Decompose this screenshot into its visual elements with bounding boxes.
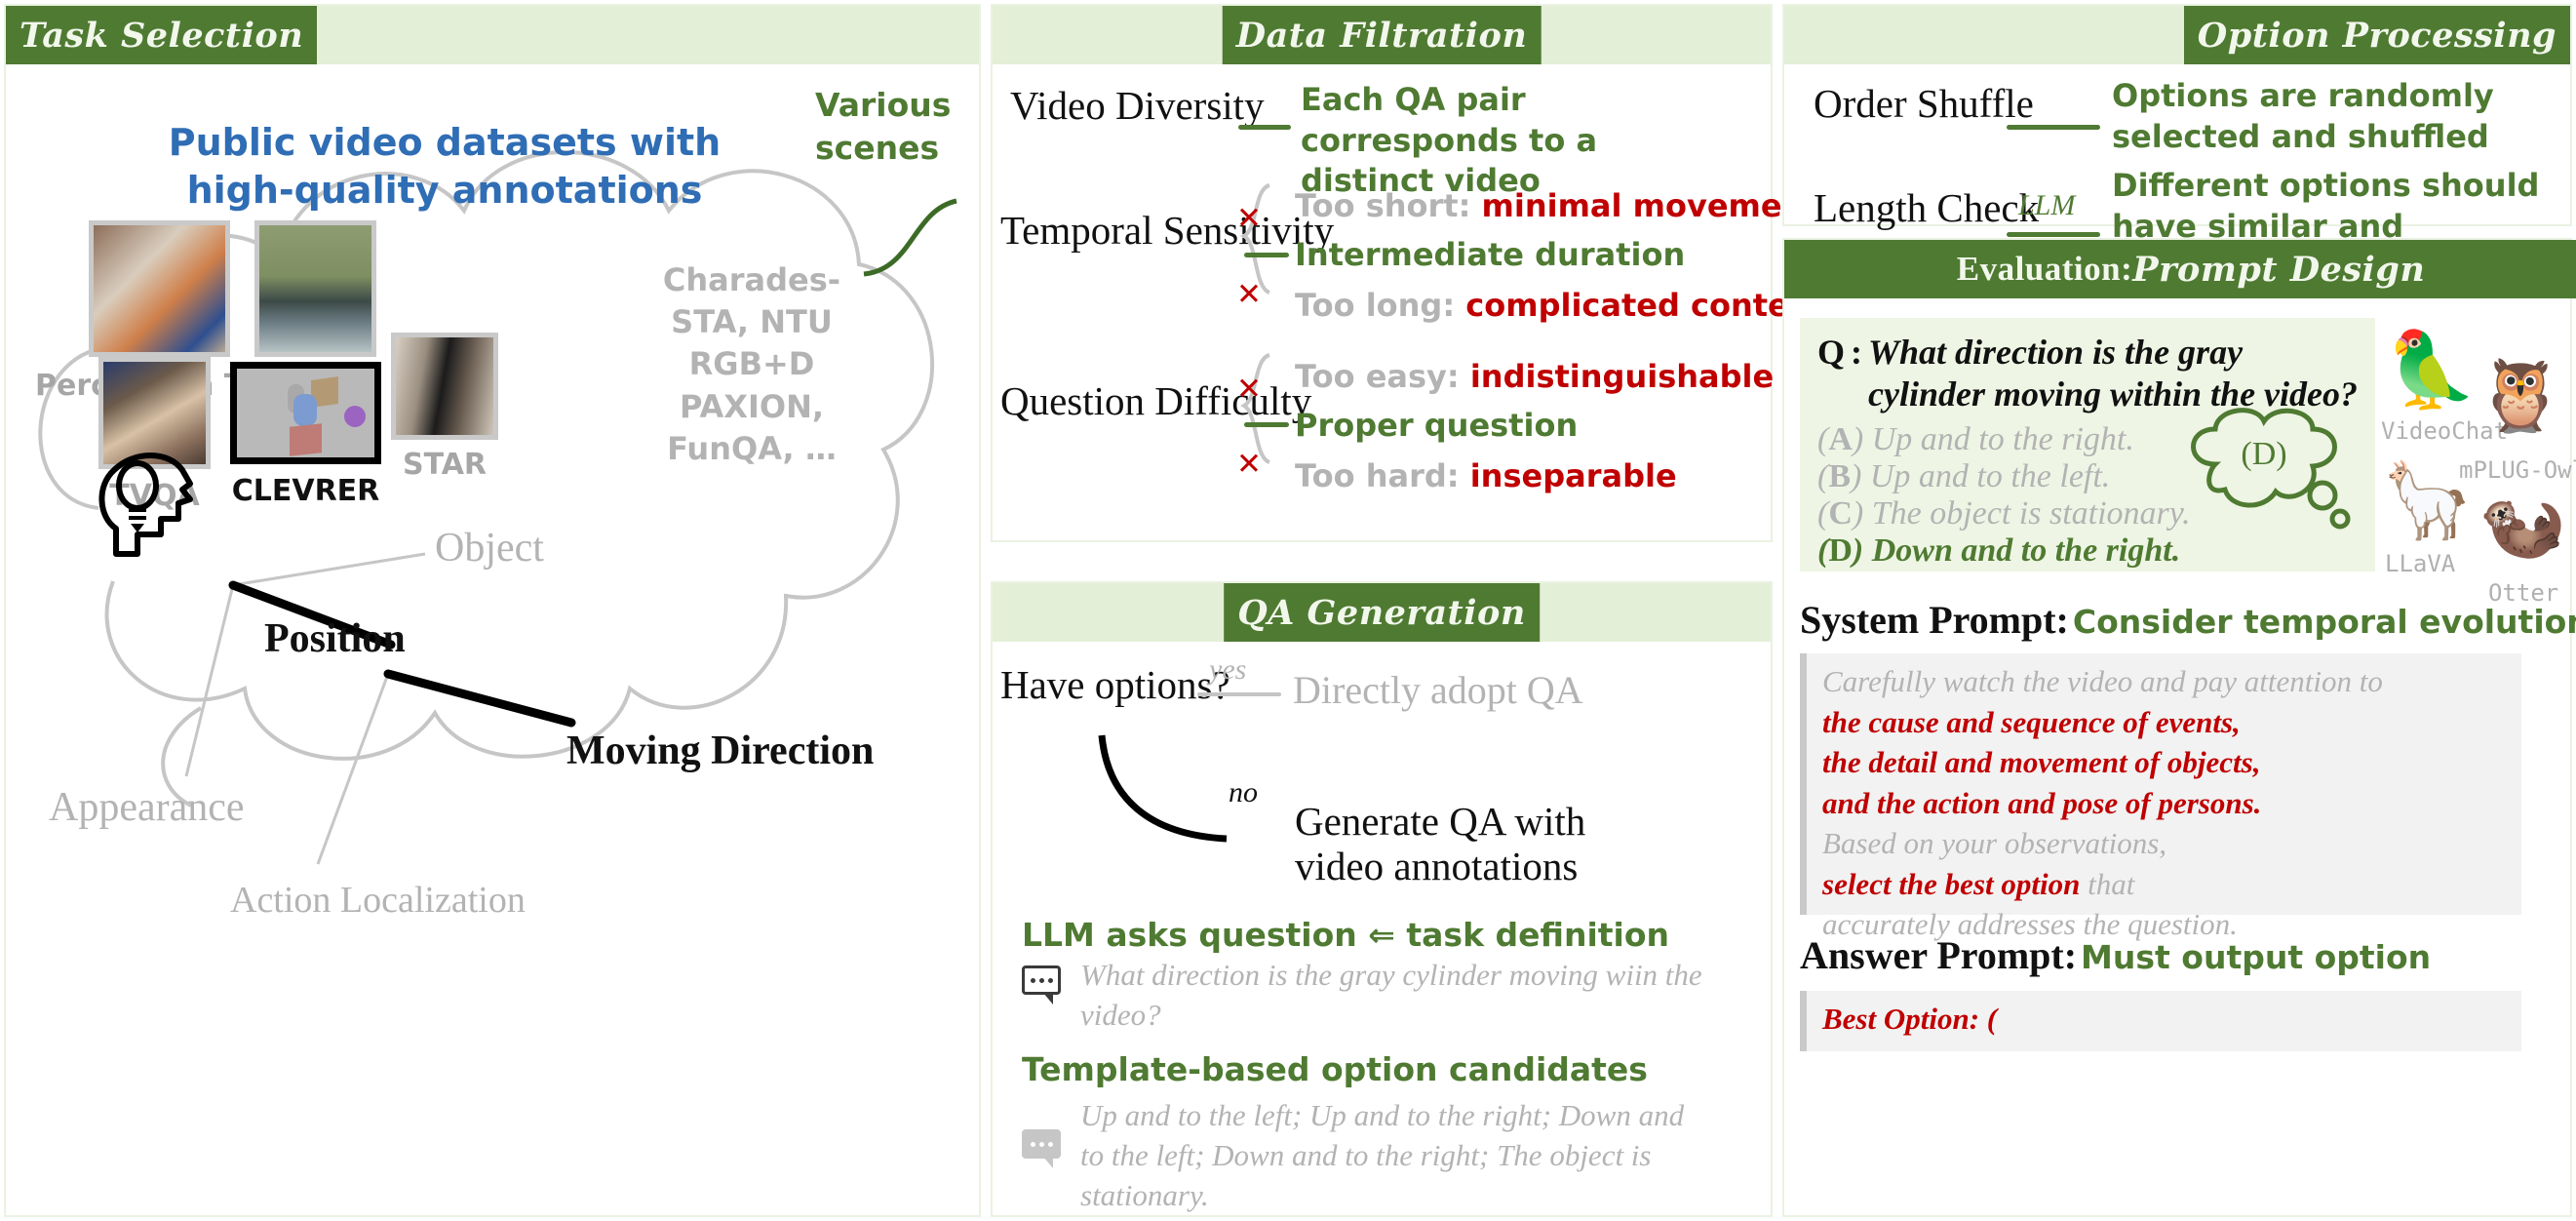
evaluation-title-sep: :: [2121, 250, 2132, 289]
option-key: B: [1828, 458, 1851, 494]
task-selection-body: Public video datasets with high-quality …: [6, 64, 979, 1217]
system-prompt-heading: System Prompt: Consider temporal evoluti…: [1800, 597, 2576, 643]
rule-text-order-shuffle: Options are randomly selected and shuffl…: [2112, 76, 2541, 157]
system-prompt-line-6: select the best option that: [1822, 864, 2521, 905]
panel-title-data-filtration: Data Filtration: [1223, 6, 1542, 64]
taxonomy-label-appearance: Appearance: [49, 784, 245, 831]
branch-prefix: Too easy:: [1295, 358, 1470, 395]
system-prompt-line-2: the cause and sequence of events,: [1822, 702, 2521, 743]
reject-mark-question-easy: ✕: [1236, 372, 1262, 407]
qa-step2-example: Up and to the left; Up and to the right;…: [1080, 1096, 1714, 1216]
branch-temporal-too-long: Too long: complicated context: [1295, 286, 1753, 327]
system-prompt-note: Consider temporal evolution: [2073, 603, 2576, 641]
panel-header-evaluation: Evaluation: Prompt Design: [1784, 240, 2570, 298]
branch-text: complicated context: [1465, 287, 1823, 324]
panel-header-qa-generation: QA Generation: [993, 583, 1771, 642]
model-label-mplug-owl: mPLUG-Owl: [2459, 456, 2576, 484]
criterion-value-video-diversity: Each QA pair corresponds to a distinct v…: [1301, 80, 1720, 202]
figure-canvas: Task Selection Public video datasets wit…: [0, 0, 2576, 1221]
rule-agent-length-check: LLM: [2018, 189, 2075, 222]
panel-qa-generation: QA Generation Have options? yes Directly…: [991, 581, 1773, 1217]
answer-prompt-text: Best Option: (: [1822, 999, 2521, 1040]
option-text: The object is stationary.: [1872, 495, 2191, 532]
answer-prompt-heading: Answer Prompt: Must output option: [1800, 932, 2431, 978]
panel-task-selection: Task Selection Public video datasets wit…: [4, 4, 981, 1217]
branch-question-proper: Proper question: [1295, 406, 1753, 447]
various-scenes-note: Various scenes: [815, 84, 961, 169]
model-label-llava: LLaVA: [2385, 550, 2455, 577]
qa-step2-heading: Template-based option candidates: [1022, 1049, 1743, 1091]
edge-line-yes: [1197, 692, 1281, 696]
panel-title-evaluation: Evaluation: Prompt Design: [1784, 240, 2576, 298]
thought-bubble-label: (D): [2241, 436, 2286, 472]
branch-question-too-easy: Too easy: indistinguishable: [1295, 357, 1753, 398]
reject-mark-temporal-long: ✕: [1236, 277, 1262, 312]
otter-icon: 🦦: [2478, 490, 2566, 560]
evaluation-title-italic: Prompt Design: [2132, 250, 2425, 290]
edge-label-no: no: [1229, 776, 1258, 809]
rule-name-order-shuffle: Order Shuffle: [1814, 82, 1989, 127]
system-prompt-line-1: Carefully watch the video and pay attent…: [1822, 661, 2521, 702]
edge-label-yes: yes: [1209, 653, 1246, 687]
branch-text: inseparable: [1470, 457, 1677, 494]
option-key: C: [1828, 495, 1853, 532]
thought-bubble-icon: (D): [2174, 404, 2360, 550]
target-generate-qa: Generate QA with video annotations: [1295, 800, 1617, 889]
answer-prompt-note: Must output option: [2081, 938, 2431, 976]
chat-bubble-filled-icon: [1022, 1129, 1061, 1164]
panel-header-option-processing: Option Processing: [1784, 6, 2570, 64]
taxonomy-label-moving-direction: Moving Direction: [566, 728, 874, 774]
branch-text: indistinguishable: [1470, 358, 1774, 395]
taxonomy-label-position: Position: [264, 615, 406, 662]
system-prompt-line-6-suffix: that: [2080, 867, 2134, 901]
qa-step1-example: What direction is the gray cylinder movi…: [1080, 956, 1704, 1036]
system-prompt-line-6-emph: select the best option: [1822, 867, 2080, 901]
reject-mark-temporal-short: ✕: [1236, 201, 1262, 236]
panel-title-qa-generation: QA Generation: [1224, 583, 1540, 642]
thumbnail-star: [391, 333, 498, 440]
panel-data-filtration: Data Filtration Video Diversity Each QA …: [991, 4, 1773, 542]
cloud-title: Public video datasets with high-quality …: [133, 119, 757, 214]
criterion-name-video-diversity: Video Diversity: [1010, 84, 1234, 129]
connector-order-shuffle: [2007, 125, 2100, 130]
question-colon: :: [1851, 332, 1862, 373]
branch-temporal-intermediate: Intermediate duration: [1295, 235, 1753, 276]
system-prompt-label: System Prompt:: [1800, 598, 2069, 642]
connector-question-good: [1244, 422, 1289, 427]
thumbnail-label-star: STAR: [381, 448, 508, 482]
edge-curve-no: [1090, 729, 1305, 856]
answer-prompt-label: Answer Prompt:: [1800, 933, 2077, 977]
branch-question-too-hard: Too hard: inseparable: [1295, 456, 1753, 497]
chat-bubble-outline-icon: [1022, 965, 1061, 1001]
option-text: Up and to the left.: [1870, 458, 2110, 494]
criterion-text: Temporal Sensitivity: [1000, 208, 1334, 253]
system-prompt-line-4: and the action and pose of persons.: [1822, 783, 2521, 824]
option-text: Up and to the right.: [1872, 421, 2134, 457]
question-key: Q: [1817, 332, 1845, 373]
system-prompt-line-3: the detail and movement of objects,: [1822, 742, 2521, 783]
criterion-name-question-difficulty: Question Difficulty: [1000, 379, 1244, 424]
llama-icon: 🦙: [2381, 464, 2474, 538]
branch-prefix: Too hard:: [1295, 457, 1470, 494]
thumbnail-clevrer: [230, 362, 381, 464]
decision-have-options: Have options?: [1000, 663, 1195, 708]
panel-evaluation: Evaluation: Prompt Design Q : What direc…: [1782, 238, 2572, 1217]
system-prompt-line-5: Based on your observations,: [1822, 823, 2521, 864]
taxonomy-label-action-localization: Action Localization: [230, 879, 526, 922]
answer-prompt-box: Best Option: (: [1800, 991, 2521, 1051]
qa-step1-heading: LLM asks question ⇐ task definition: [1022, 915, 1743, 957]
panel-title-task-selection: Task Selection: [6, 6, 317, 64]
criterion-text: Video Diversity: [1010, 83, 1265, 128]
branch-text: minimal movement: [1482, 187, 1819, 224]
option-key: A: [1828, 421, 1853, 457]
dataset-name-list: Charades-STA, NTU RGB+D PAXION, FunQA, …: [630, 259, 874, 470]
reject-mark-question-hard: ✕: [1236, 447, 1262, 482]
parrot-icon: 🦜: [2385, 334, 2478, 408]
thumbnail-perception-test: [89, 220, 230, 357]
rule-name-length-check: Length Check: [1814, 186, 1989, 231]
panel-header-data-filtration: Data Filtration: [993, 6, 1771, 64]
branch-prefix: Too short:: [1295, 187, 1482, 224]
option-key: D: [1828, 532, 1853, 569]
connector-temporal-good: [1244, 253, 1289, 257]
branch-temporal-too-short: Too short: minimal movement: [1295, 186, 1753, 227]
connector-length-check: [2007, 232, 2100, 237]
panel-option-processing: Option Processing Order Shuffle Options …: [1782, 4, 2572, 226]
evaluation-title-bold: Evaluation: [1957, 250, 2121, 289]
option-text: Down and to the right.: [1872, 532, 2180, 569]
connector-video-diversity: [1238, 125, 1291, 130]
thumbnail-mit-v1: [254, 220, 376, 357]
branch-prefix: Too long:: [1295, 287, 1465, 324]
panel-header-task-selection: Task Selection: [6, 6, 979, 64]
taxonomy-label-object: Object: [435, 525, 544, 571]
panel-title-option-processing: Option Processing: [2184, 6, 2570, 64]
system-prompt-box: Carefully watch the video and pay attent…: [1800, 653, 2521, 915]
owl-icon: 🦉: [2477, 361, 2564, 431]
criterion-name-temporal-sensitivity: Temporal Sensitivity: [1000, 209, 1244, 254]
target-directly-adopt-qa: Directly adopt QA: [1293, 667, 1583, 713]
